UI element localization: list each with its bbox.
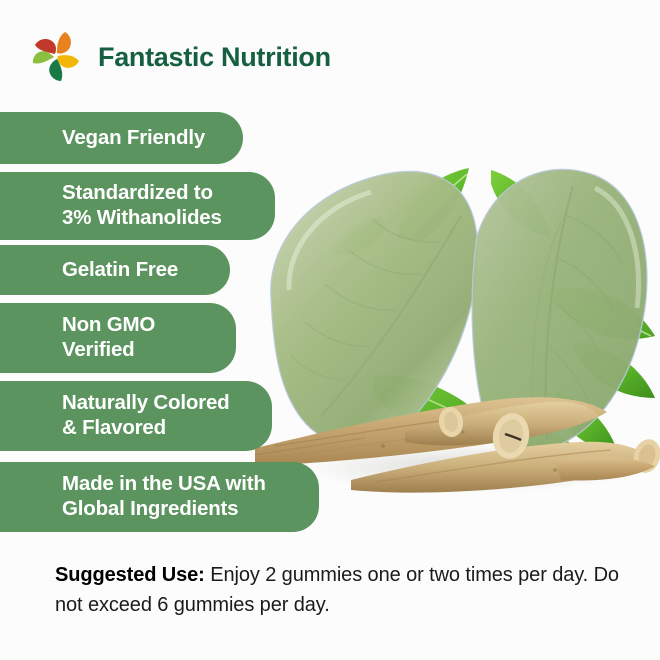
feature-badge-label: Gelatin Free	[62, 258, 178, 283]
feature-badge-non-gmo-verified[interactable]: Non GMO Verified	[0, 303, 236, 373]
feature-badge-gelatin-free[interactable]: Gelatin Free	[0, 245, 230, 295]
feature-badge-label: Non GMO Verified	[62, 313, 155, 362]
suggested-use-block: Suggested Use: Enjoy 2 gummies one or tw…	[55, 560, 620, 621]
feature-badge-label: Made in the USA with Global Ingredients	[62, 472, 266, 521]
feature-badge-standardized-withanolides[interactable]: Standardized to 3% Withanolides	[0, 172, 275, 240]
feature-badge-label: Naturally Colored & Flavored	[62, 391, 229, 440]
brand-header: Fantastic Nutrition	[28, 26, 331, 88]
feature-badge-made-in-usa[interactable]: Made in the USA with Global Ingredients	[0, 462, 319, 532]
feature-badge-vegan-friendly[interactable]: Vegan Friendly	[0, 112, 243, 164]
pinwheel-flower-logo	[28, 29, 84, 85]
feature-badge-naturally-colored-flavored[interactable]: Naturally Colored & Flavored	[0, 381, 272, 451]
infographic-canvas: Fantastic Nutrition Manufactured in an F…	[0, 0, 660, 660]
suggested-use-label: Suggested Use:	[55, 564, 205, 586]
feature-badge-label: Standardized to 3% Withanolides	[62, 181, 222, 230]
feature-badge-label: Vegan Friendly	[62, 126, 205, 151]
brand-name: Fantastic Nutrition	[98, 42, 331, 73]
